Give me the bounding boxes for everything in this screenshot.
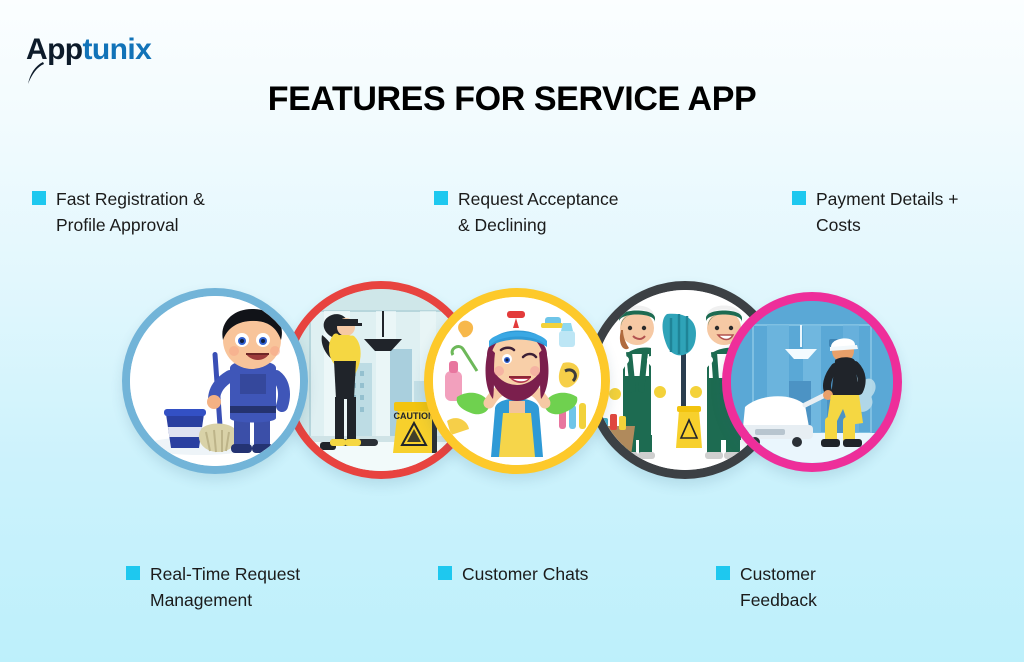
feature-item-request-acceptance: Request Acceptance & Declining: [434, 186, 694, 238]
smiling-cleaner-with-supplies-icon: [433, 297, 601, 465]
illustration-circle-floor-scrubber: [722, 292, 902, 472]
feature-label: Customer Chats: [462, 561, 588, 587]
logo-word-tunix: tunix: [83, 33, 152, 66]
feature-item-customer-feedback: Customer Feedback: [716, 561, 916, 613]
apptunix-logo[interactable]: Apptunix: [26, 26, 151, 66]
illustration-circle-smiling-cleaner: [424, 288, 610, 474]
square-bullet-icon: [438, 566, 452, 580]
feature-label: Request Acceptance & Declining: [458, 186, 619, 238]
page-title: FEATURES FOR SERVICE APP: [0, 80, 1024, 119]
square-bullet-icon: [792, 191, 806, 205]
square-bullet-icon: [434, 191, 448, 205]
svg-text:CAUTION: CAUTION: [394, 411, 435, 421]
feature-label: Payment Details + Costs: [816, 186, 959, 238]
illustration-circle-boy-with-mop: [122, 288, 308, 474]
square-bullet-icon: [716, 566, 730, 580]
feature-label: Customer Feedback: [740, 561, 817, 613]
feature-label: Fast Registration & Profile Approval: [56, 186, 205, 238]
feature-item-payment-details: Payment Details + Costs: [792, 186, 1012, 238]
feature-item-customer-chats: Customer Chats: [438, 561, 678, 587]
square-bullet-icon: [32, 191, 46, 205]
feature-item-real-time-request-management: Real-Time Request Management: [126, 561, 376, 613]
infographic-canvas: Apptunix FEATURES FOR SERVICE APP Fast R…: [0, 0, 1024, 662]
feature-label: Real-Time Request Management: [150, 561, 300, 613]
feature-item-fast-registration: Fast Registration & Profile Approval: [32, 186, 282, 238]
worker-with-floor-scrubber-icon: [731, 301, 893, 463]
boy-with-mop-and-bucket-icon: [130, 296, 300, 466]
square-bullet-icon: [126, 566, 140, 580]
